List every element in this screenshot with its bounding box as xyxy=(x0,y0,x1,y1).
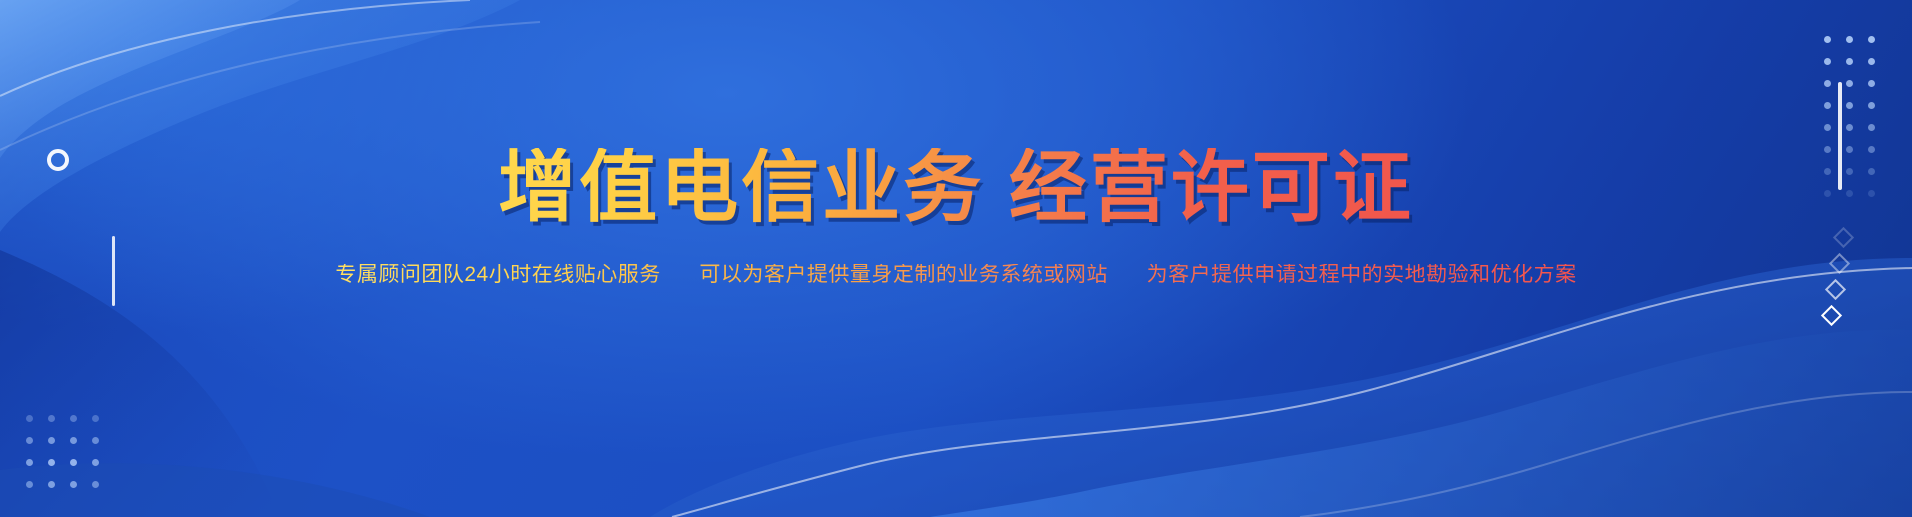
banner-subtitle: 专属顾问团队24小时在线贴心服务 可以为客户提供量身定制的业务系统或网站 为客户… xyxy=(335,264,1576,285)
banner-headline: 增值电信业务 经营许可证 xyxy=(498,148,1414,226)
subtitle-part-1: 专属顾问团队24小时在线贴心服务 xyxy=(335,263,660,286)
banner-content: 增值电信业务 经营许可证 专属顾问团队24小时在线贴心服务 可以为客户提供量身定… xyxy=(0,0,1912,517)
promo-banner: 增值电信业务 经营许可证 专属顾问团队24小时在线贴心服务 可以为客户提供量身定… xyxy=(0,0,1912,517)
subtitle-part-3: 为客户提供申请过程中的实地勘验和优化方案 xyxy=(1147,263,1577,286)
subtitle-part-2: 可以为客户提供量身定制的业务系统或网站 xyxy=(699,263,1108,286)
